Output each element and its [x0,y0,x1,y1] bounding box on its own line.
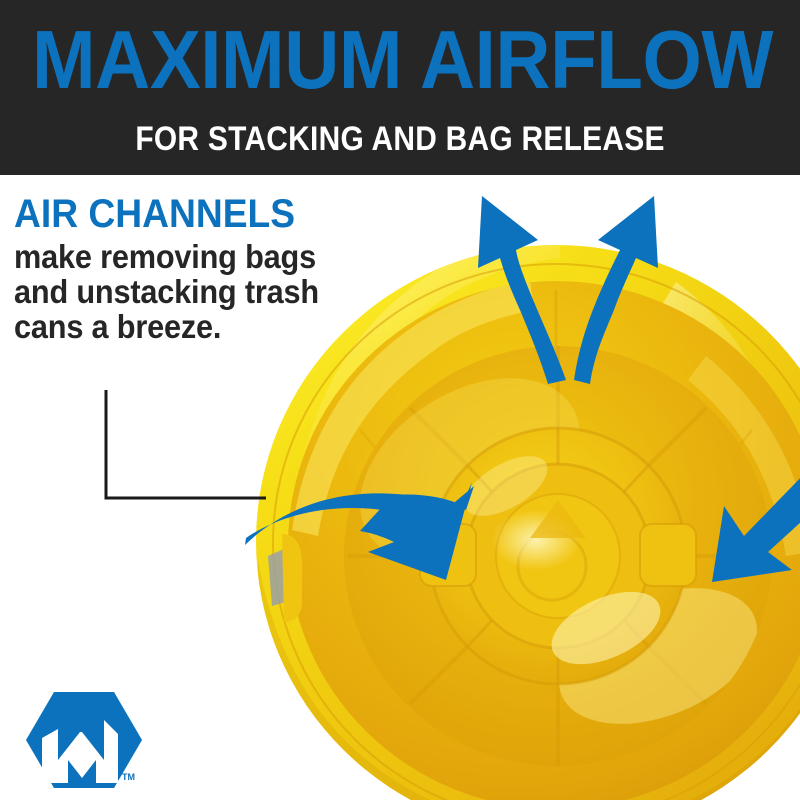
callout-title: AIR CHANNELS [14,192,321,236]
infographic-canvas: MAXIMUM AIRFLOW FOR STACKING AND BAG REL… [0,0,800,800]
page-subtitle: FOR STACKING AND BAG RELEASE [48,120,752,158]
callout-body-line-1: make removing bags [14,239,321,274]
hexagon-m-logo-icon: TM [18,688,148,792]
logo-trademark: TM [122,772,135,782]
callout-text-block: AIR CHANNELS make removing bags and unst… [14,192,344,344]
header-band: MAXIMUM AIRFLOW FOR STACKING AND BAG REL… [0,0,800,175]
callout-body-line-3: cans a breeze. [14,309,321,344]
page-title: MAXIMUM AIRFLOW [32,17,768,103]
callout-body: make removing bags and unstacking trash … [14,239,321,344]
brand-logo: TM [18,688,148,792]
callout-body-line-2: and unstacking trash [14,274,321,309]
leader-line-path [106,390,266,498]
